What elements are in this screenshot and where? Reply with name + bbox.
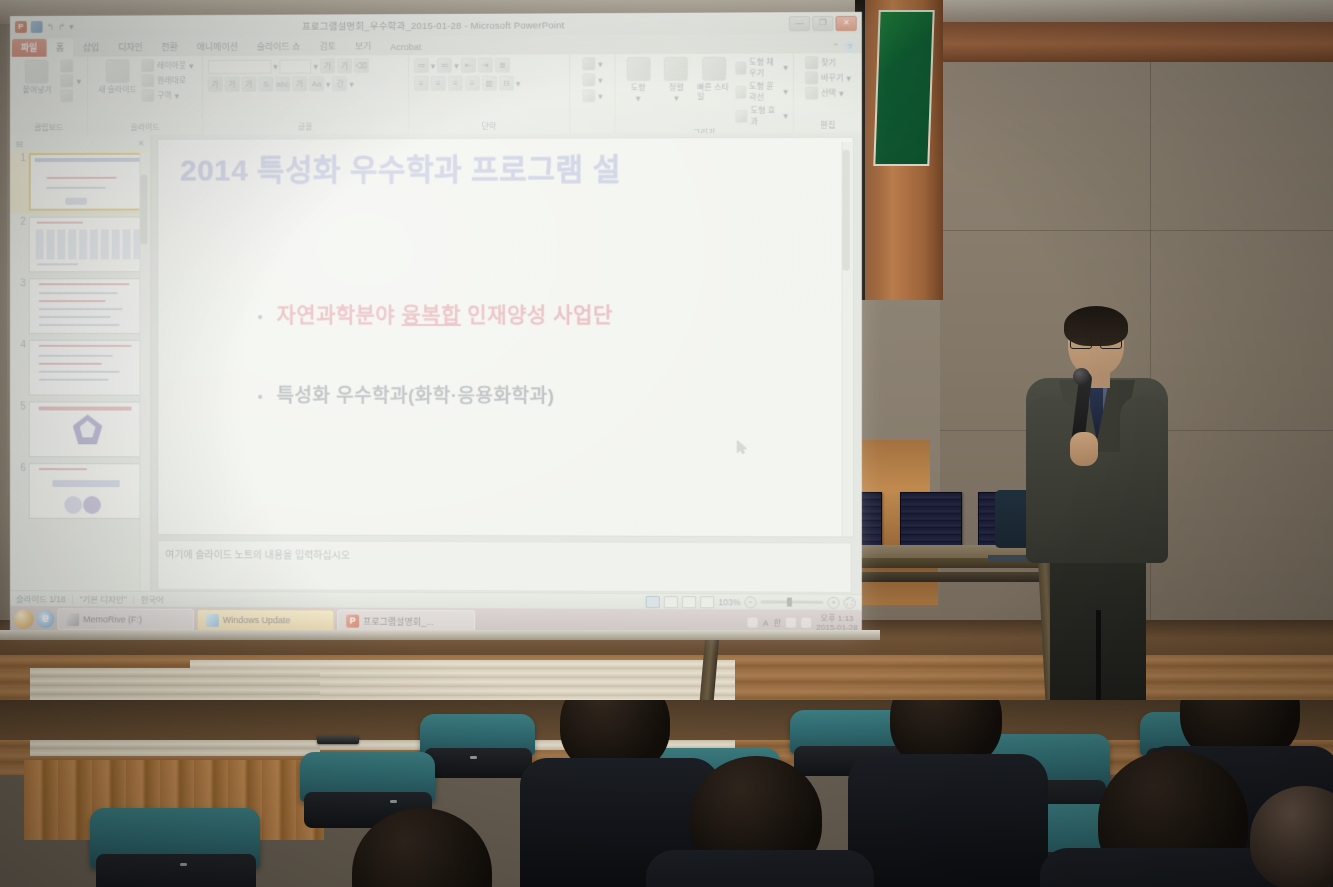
thumb-line (53, 480, 120, 487)
thumbnail-pane-header[interactable]: ▤ ✕ (10, 139, 150, 150)
clock-time: 오후 1:13 (821, 614, 854, 623)
format-painter-button[interactable] (61, 89, 81, 102)
shapes-button[interactable]: 도형▾ (621, 57, 656, 104)
start-button-icon[interactable] (14, 609, 34, 629)
align-right-button[interactable]: ≡ (448, 76, 463, 91)
group-label-clipboard: 클립보드 (34, 122, 63, 134)
windows-update-icon (206, 613, 219, 626)
effects-icon (735, 109, 747, 122)
ribbon-group-drawing[interactable]: 도형▾ 정렬▾ 빠른 스타일 도형 채우기▾ 도형 윤곽선▾ (616, 53, 794, 133)
thumb-line (39, 300, 106, 302)
align-text-icon (582, 73, 595, 86)
tab-animations[interactable]: 애니메이션 (188, 38, 247, 56)
thumb-line (39, 308, 122, 310)
shapes-icon (626, 57, 650, 81)
wall-seam (940, 230, 1333, 231)
projection-screen: P ↰ ↱ ▾ 프로그램설명회_우수학과_2015-01-28 - Micros… (10, 12, 862, 636)
zoom-in-button[interactable]: + (827, 596, 839, 608)
align-left-button[interactable]: ≡ (414, 76, 429, 91)
taskbar-item-label: Windows Update (223, 615, 291, 625)
chair-highlight (470, 756, 477, 759)
taskbar-item-powerpoint[interactable]: P 프로그램설명회_... (337, 610, 475, 633)
greenboard-icon (873, 10, 934, 166)
text-direction-icon (582, 89, 595, 102)
strikethrough-button[interactable]: abc (275, 77, 290, 92)
layout-icon (141, 59, 154, 72)
notes-pane[interactable]: 여기에 슬라이드 노트의 내용을 입력하십시오 (157, 540, 851, 593)
reset-icon (141, 74, 154, 87)
search-icon (805, 56, 818, 69)
zoom-slider[interactable] (761, 600, 824, 603)
thumb-diagram (36, 229, 140, 259)
font-name-input[interactable] (208, 59, 272, 73)
thumb-line (39, 316, 111, 318)
list-item[interactable]: 4 (10, 337, 150, 399)
slide-body[interactable]: • 자연과학분야 융복합 인재양성 사업단 • 특성화 우수학과(화학·응용화학… (258, 299, 833, 461)
taskbar-item-windows-update[interactable]: Windows Update (197, 609, 334, 632)
presenter-hand (1070, 432, 1098, 466)
zoom-level: 103% (718, 597, 740, 607)
slide-counter: 슬라이드 1/18 (16, 593, 66, 605)
powerpoint-icon: P (346, 614, 359, 627)
thumbnail-scrollbar[interactable] (139, 153, 149, 599)
paste-button[interactable]: 붙여넣기 (16, 60, 57, 95)
bullet-text-1: 자연과학분야 융복합 인재양성 사업단 (277, 299, 613, 329)
tab-home[interactable]: 홈 (47, 39, 73, 57)
align-text-button[interactable]: ▾ (582, 73, 603, 86)
thumb-title-bar (35, 158, 141, 162)
microphone-head-icon (1073, 368, 1090, 385)
fill-icon (735, 61, 746, 74)
thumb-line (39, 363, 101, 365)
text-direction2-button[interactable]: ▾ (582, 89, 603, 102)
bullet-1-underlined: 융복합 (402, 304, 461, 327)
slide-scrollbar[interactable] (842, 142, 852, 538)
presenter-arm (1120, 396, 1168, 551)
internet-explorer-icon[interactable]: e (37, 610, 55, 628)
arrange-label: 정렬 (669, 83, 684, 92)
reset-label: 원래대로 (157, 75, 186, 86)
slide-thumbnail-pane[interactable]: ▤ ✕ 1 2 (10, 135, 151, 603)
slide-editing-pane[interactable]: 2014 특성화 우수학과 프로그램 설 • 자연과학분야 융복합 인재양성 사… (151, 133, 861, 606)
replace-label: 바꾸기 (821, 72, 843, 83)
tab-file[interactable]: 파일 (12, 39, 46, 57)
tab-view[interactable]: 보기 (346, 37, 380, 55)
taskbar-item-label: MemoRive (F:) (83, 614, 142, 624)
bullet-marker: • (258, 310, 263, 325)
thumb-line (39, 324, 120, 326)
thumbnail-preview[interactable] (29, 153, 147, 211)
thumbnail-preview[interactable] (29, 401, 147, 457)
tab-acrobat[interactable]: Acrobat (381, 40, 430, 55)
quick-styles-icon (703, 57, 727, 81)
select-button[interactable]: 선택▾ (805, 86, 851, 99)
thumbnail-number: 2 (14, 217, 26, 228)
list-item[interactable]: 5 (10, 398, 150, 460)
security-icon[interactable] (748, 617, 758, 627)
powerpoint-window: P ↰ ↱ ▾ 프로그램설명회_우수학과_2015-01-28 - Micros… (10, 12, 862, 636)
zoom-slider-handle[interactable] (787, 598, 792, 607)
group-label-font: 글꼴 (298, 121, 313, 133)
usb-drive-icon (66, 613, 79, 626)
thumb-line (37, 222, 83, 224)
copy-icon (61, 74, 74, 87)
change-case-button[interactable]: Aa (309, 76, 324, 91)
smartart-icon (582, 57, 595, 70)
title-bar: P ↰ ↱ ▾ 프로그램설명회_우수학과_2015-01-28 - Micros… (10, 12, 862, 38)
quick-styles-label: 빠른 스타일 (697, 83, 732, 101)
columns-button[interactable]: ▥ (482, 76, 497, 91)
thumb-line (39, 406, 132, 410)
presenter (1020, 310, 1175, 730)
venn-circle (64, 496, 82, 514)
slide-title[interactable]: 2014 특성화 우수학과 프로그램 설 (180, 144, 853, 190)
align-center-button[interactable]: ≡ (431, 76, 446, 91)
bullets-button[interactable]: ≔ (414, 58, 429, 73)
fit-to-window-button[interactable]: ⛶ (844, 596, 856, 608)
screen-bottom-frame (0, 630, 880, 640)
ribbon-group-paragraph[interactable]: ≔▾ ≕▾ ⇤ ⇥ ≣ ≡ ≡ ≡ ≡ ▥ ⊟▾ (409, 54, 570, 134)
clear-formatting-button[interactable]: ⌫ (354, 58, 369, 73)
character-spacing-button[interactable]: 가 (292, 77, 307, 92)
copy-button[interactable]: ▾ (61, 74, 81, 87)
thumbnail-number: 5 (14, 401, 26, 412)
window-title: 프로그램설명회_우수학과_2015-01-28 - Microsoft Powe… (10, 16, 862, 34)
list-item[interactable]: 1 (10, 150, 150, 214)
increase-indent-button[interactable]: ⇥ (478, 58, 493, 73)
paste-icon (25, 60, 49, 84)
group-label-slides: 슬라이드 (130, 122, 159, 134)
shadow-button[interactable]: S (258, 77, 273, 92)
theme-name: "기본 디자인" (80, 593, 127, 605)
thumb-line (47, 187, 106, 189)
list-item[interactable]: 2 (10, 214, 150, 276)
layout-label: 레이아웃 (157, 60, 186, 71)
ime-korean-indicator[interactable]: 한 (773, 617, 780, 628)
list-item[interactable]: • 특성화 우수학과(화학·응용화학과) (258, 381, 833, 409)
thumbnail-number: 3 (14, 278, 26, 289)
thumb-line (39, 345, 132, 347)
audience-shoulders (848, 754, 1048, 887)
chair-highlight (180, 863, 187, 866)
scissors-icon (61, 60, 74, 73)
volume-icon[interactable] (801, 618, 811, 628)
numbering-button[interactable]: ≕ (437, 58, 452, 73)
view-normal-button[interactable] (646, 595, 660, 607)
select-icon (805, 87, 818, 100)
lecture-hall-photo: P ↰ ↱ ▾ 프로그램설명회_우수학과_2015-01-28 - Micros… (0, 0, 1333, 887)
find-label: 찾기 (821, 57, 836, 68)
ime-latin-indicator[interactable]: A (763, 618, 768, 627)
decrease-indent-button[interactable]: ⇤ (461, 58, 476, 73)
shape-fill-button[interactable]: 도형 채우기▾ (735, 56, 788, 78)
italic-button[interactable]: 가 (225, 77, 240, 92)
paste-label: 붙여넣기 (23, 85, 52, 94)
select-label: 선택 (821, 87, 836, 98)
zoom-out-button[interactable]: − (744, 596, 756, 608)
view-slide-sorter-button[interactable] (664, 596, 678, 608)
thumbnail-preview[interactable] (29, 340, 147, 396)
ribbon-group-smartart[interactable]: ▾ ▾ ▾ (570, 54, 615, 133)
tab-slideshow[interactable]: 슬라이드 쇼 (248, 38, 310, 56)
decrease-font-size-button[interactable]: 가 (337, 58, 352, 73)
slide-canvas[interactable]: 2014 특성화 우수학과 프로그램 설 • 자연과학분야 융복합 인재양성 사… (157, 137, 853, 538)
list-item[interactable]: 3 (10, 275, 150, 337)
arrange-icon (664, 57, 688, 81)
group-label-paragraph: 단락 (481, 121, 496, 133)
language-indicator[interactable]: 한국어 (141, 593, 164, 605)
text-direction-button[interactable]: ⊟ (499, 76, 514, 91)
tab-design[interactable]: 디자인 (109, 38, 151, 56)
ribbon-group-editing[interactable]: 찾기 바꾸기▾ 선택▾ 편집 (794, 53, 862, 133)
status-divider: | (71, 594, 73, 604)
audience-seating (0, 700, 1333, 887)
scrollbar-thumb[interactable] (843, 150, 850, 271)
outline-tab-icon[interactable]: ▤ (16, 139, 23, 148)
bold-button[interactable]: 가 (208, 77, 223, 92)
reset-button[interactable]: 원래대로 (141, 74, 194, 87)
line-spacing-button[interactable]: ≣ (495, 58, 510, 73)
work-area: ▤ ✕ 1 2 (10, 133, 862, 606)
underline-button[interactable]: 가 (241, 77, 256, 92)
list-item[interactable]: 6 (10, 460, 150, 522)
replace-button[interactable]: 바꾸기▾ (805, 71, 851, 84)
bullet-marker: • (258, 390, 263, 405)
shape-outline-button[interactable]: 도형 윤곽선▾ (735, 81, 788, 103)
quick-styles-button[interactable]: 빠른 스타일 (697, 57, 732, 101)
folder-stack (900, 492, 962, 552)
outline-icon (735, 85, 746, 98)
view-reading-button[interactable] (682, 596, 696, 608)
close-pane-icon[interactable]: ✕ (138, 139, 145, 148)
ribbon-group-font[interactable]: ▾ ▾ 가 가 ⌫ 가 가 가 S abc (203, 55, 409, 135)
taskbar-item-label: 프로그램설명회_... (363, 614, 433, 627)
glasses-icon (1070, 336, 1122, 347)
thumb-line (39, 468, 88, 470)
ribbon[interactable]: 붙여넣기 ▾ 클립보드 새 슬라이드 (10, 53, 862, 136)
section-button[interactable]: 구역▾ (141, 89, 194, 102)
brush-icon (61, 89, 74, 102)
shape-effects-button[interactable]: 도형 효과▾ (735, 105, 788, 127)
font-size-input[interactable] (280, 59, 312, 73)
bullet-text-2: 특성화 우수학과(화학·응용화학과) (277, 381, 555, 408)
mouse-cursor-icon (736, 440, 747, 455)
thumb-line (39, 379, 108, 381)
thumb-line (39, 292, 118, 294)
shape-fill-label: 도형 채우기 (749, 57, 780, 79)
network-icon[interactable] (786, 618, 796, 628)
bullet-1-pre: 자연과학분야 (277, 304, 402, 327)
bullet-1-post: 인재양성 사업단 (461, 304, 613, 327)
thumb-line (47, 177, 117, 179)
shape-outline-label: 도형 윤곽선 (749, 81, 780, 103)
minimize-ribbon-icon[interactable]: ⌃ (832, 41, 840, 53)
group-label-spacer (591, 122, 593, 132)
layout-button[interactable]: 레이아웃▾ (141, 59, 194, 72)
thumbnail-preview[interactable] (29, 463, 147, 519)
cut-button[interactable] (61, 60, 81, 73)
audience-shoulders (646, 850, 874, 887)
chair-seat (96, 854, 256, 887)
thumb-logo (65, 198, 87, 205)
view-slideshow-button[interactable] (700, 596, 714, 608)
ribbon-group-clipboard[interactable]: 붙여넣기 ▾ 클립보드 (10, 57, 88, 136)
ribbon-tabs-right[interactable]: ⌃ ? (832, 41, 862, 53)
section-icon (141, 89, 154, 102)
thumb-line (39, 283, 129, 285)
presenter-arm (1026, 396, 1072, 546)
increase-font-size-button[interactable]: 가 (320, 58, 335, 73)
list-item[interactable]: • 자연과학분야 융복합 인재양성 사업단 (258, 299, 833, 329)
shapes-label: 도형 (631, 83, 646, 92)
tab-insert[interactable]: 삽입 (74, 39, 108, 57)
justify-button[interactable]: ≡ (465, 76, 480, 91)
group-label-editing: 편집 (820, 120, 835, 132)
status-bar-right[interactable]: 103% − + ⛶ (646, 595, 856, 608)
chair-highlight (390, 800, 397, 803)
thumb-line (37, 263, 79, 265)
font-color-button[interactable]: 간 (333, 76, 348, 91)
taskbar-item-memorive[interactable]: MemoRive (F:) (57, 608, 194, 631)
venn-circle (83, 496, 101, 514)
tab-transitions[interactable]: 전환 (153, 38, 187, 56)
chair-seat (424, 748, 532, 778)
thumb-line (39, 371, 120, 373)
shape-effects-label: 도형 효과 (751, 105, 781, 127)
status-divider: | (132, 594, 134, 604)
new-slide-label: 새 슬라이드 (98, 85, 137, 94)
section-label: 구역 (157, 90, 172, 101)
replace-icon (805, 71, 818, 84)
thumbnail-preview[interactable] (29, 217, 147, 273)
thumbnail-number: 4 (14, 340, 26, 351)
scrollbar-thumb[interactable] (140, 175, 147, 245)
find-button[interactable]: 찾기 (805, 56, 851, 69)
thumbnail-number: 6 (14, 463, 26, 474)
thumb-line (39, 355, 113, 357)
arrange-button[interactable]: 정렬▾ (659, 57, 694, 104)
new-slide-icon (105, 59, 129, 83)
thumbnail-preview[interactable] (29, 278, 147, 334)
ribbon-group-slides[interactable]: 새 슬라이드 레이아웃▾ 원래대로 구역▾ 슬라이드 (88, 56, 202, 135)
convert-smartart-button[interactable]: ▾ (582, 57, 603, 70)
tab-review[interactable]: 검토 (310, 37, 344, 55)
help-icon[interactable]: ? (844, 41, 856, 53)
new-slide-button[interactable]: 새 슬라이드 (97, 59, 139, 94)
thumbnail-number: 1 (14, 153, 26, 164)
